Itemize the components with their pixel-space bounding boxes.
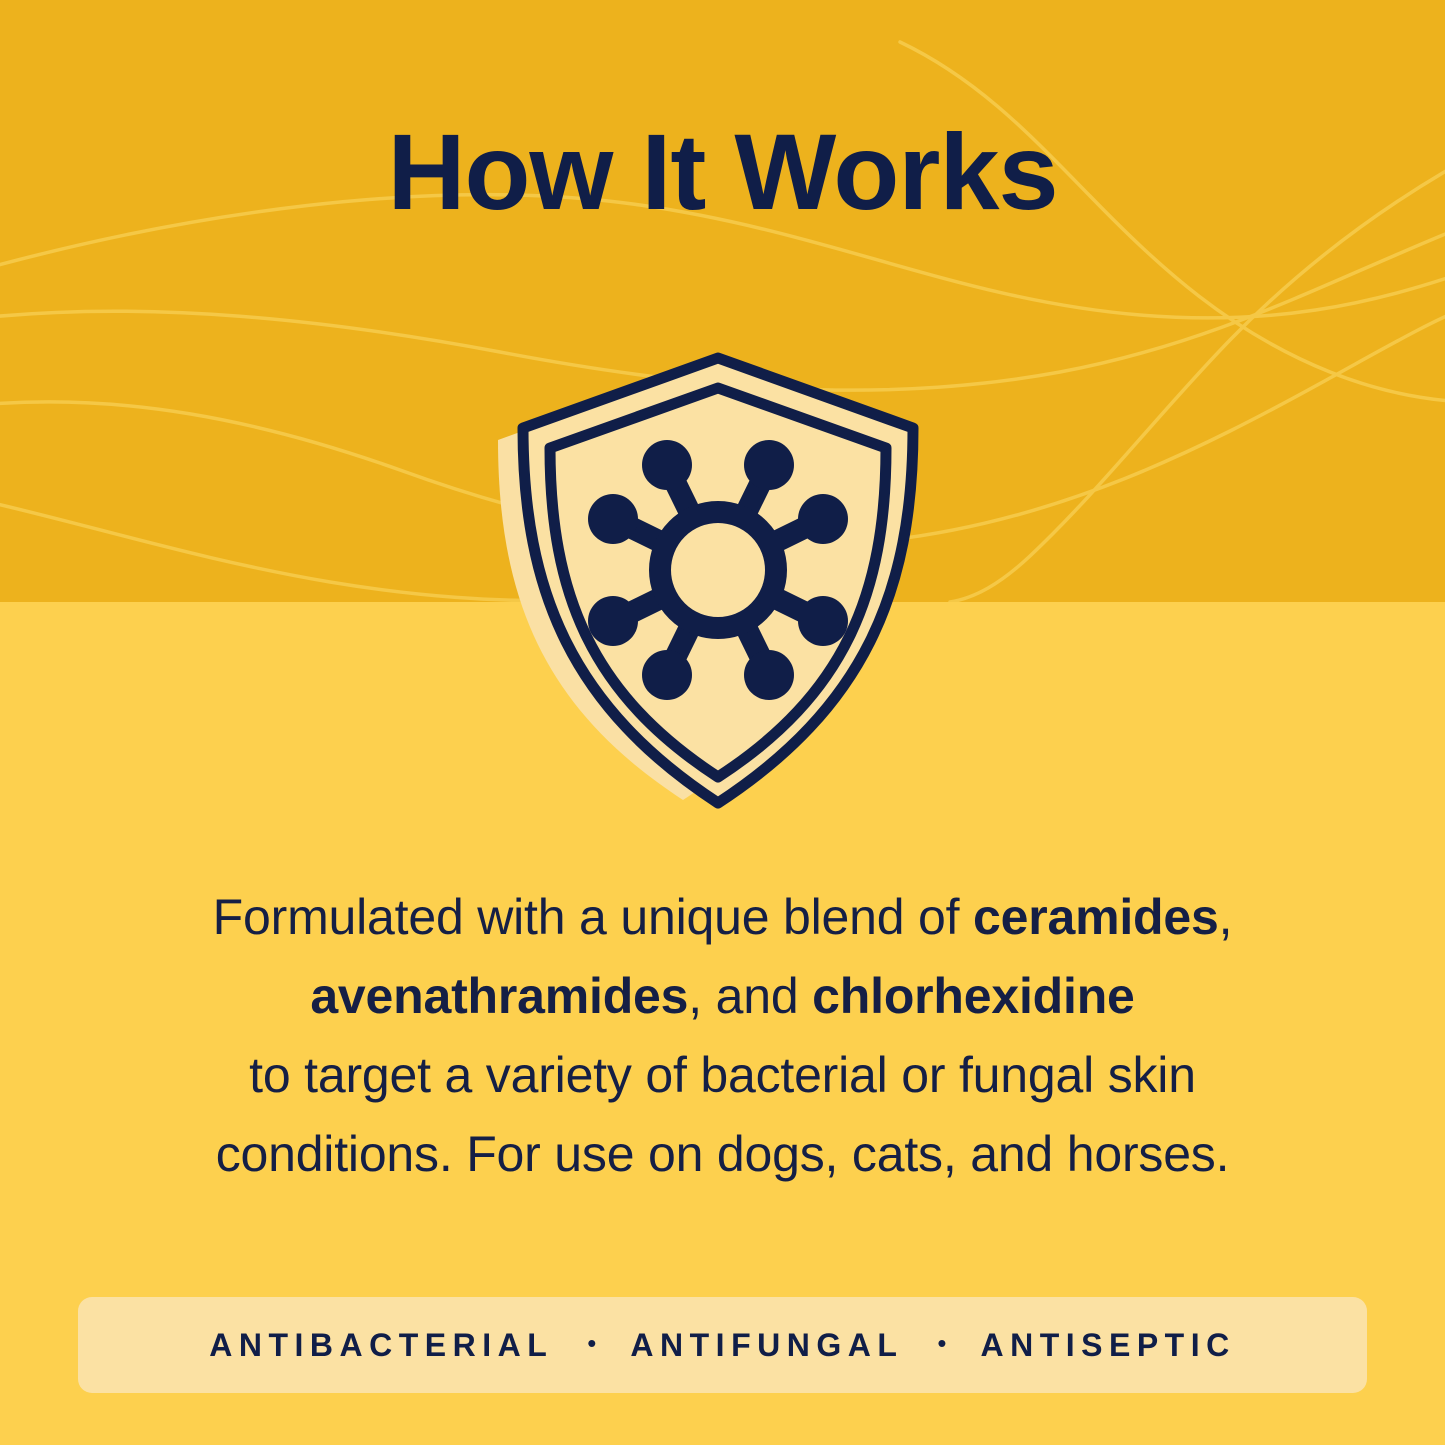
description-line-1: Formulated with a unique blend of cerami… (120, 878, 1325, 957)
description-line-4: conditions. For use on dogs, cats, and h… (120, 1115, 1325, 1194)
description-line-3: to target a variety of bacterial or fung… (120, 1036, 1325, 1115)
line1-prefix: Formulated with a unique blend of (213, 889, 973, 945)
claim-antiseptic: ANTISEPTIC (980, 1327, 1235, 1364)
line1-bold-ceramides: ceramides (973, 889, 1219, 945)
page-title: How It Works (0, 112, 1445, 233)
line2-bold-avenathramides: avenathramides (310, 968, 688, 1024)
claim-antibacterial: ANTIBACTERIAL (209, 1327, 553, 1364)
claim-separator-dot-1: • (553, 1330, 630, 1356)
promo-graphic: How It Works (0, 0, 1445, 1445)
shield-virus-icon (470, 345, 970, 845)
line2-middle: , and (688, 968, 812, 1024)
claim-antifungal: ANTIFUNGAL (630, 1327, 903, 1364)
line2-bold-chlorhexidine: chlorhexidine (812, 968, 1134, 1024)
description-line-2: avenathramides, and chlorhexidine (120, 957, 1325, 1036)
claim-separator-dot-2: • (903, 1330, 980, 1356)
claims-row: ANTIBACTERIAL • ANTIFUNGAL • ANTISEPTIC (209, 1327, 1235, 1364)
line1-suffix: , (1219, 889, 1233, 945)
claims-banner: ANTIBACTERIAL • ANTIFUNGAL • ANTISEPTIC (78, 1297, 1367, 1393)
germ-core-ring (660, 512, 776, 628)
description-paragraph: Formulated with a unique blend of cerami… (120, 878, 1325, 1194)
shield-virus-svg (470, 345, 970, 845)
